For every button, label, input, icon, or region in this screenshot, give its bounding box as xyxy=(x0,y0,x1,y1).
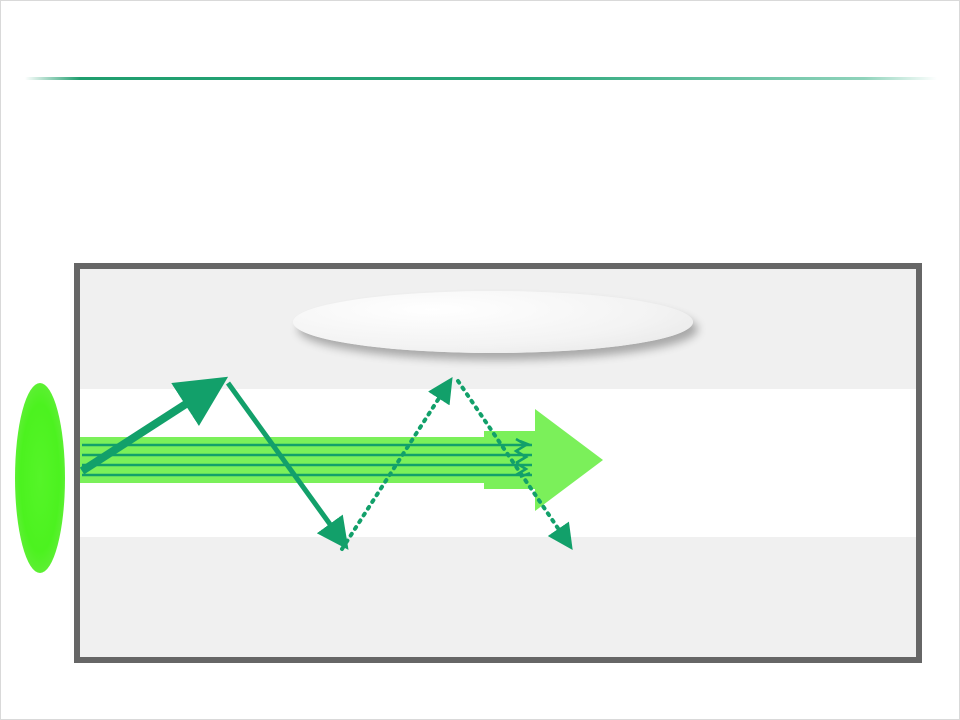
particle-band-bottom xyxy=(80,537,916,657)
light-source-badge xyxy=(15,383,65,573)
beam-arrow-head xyxy=(535,409,603,511)
optical-diagram xyxy=(74,263,922,663)
slide-canvas xyxy=(0,0,960,720)
bullet-2-jp xyxy=(29,200,35,223)
title-divider xyxy=(25,77,937,80)
sn-callout-text xyxy=(604,409,904,411)
light-beam-band xyxy=(80,437,543,483)
bullet-1-jp xyxy=(29,146,35,169)
carbon-particle-callout xyxy=(293,291,693,353)
